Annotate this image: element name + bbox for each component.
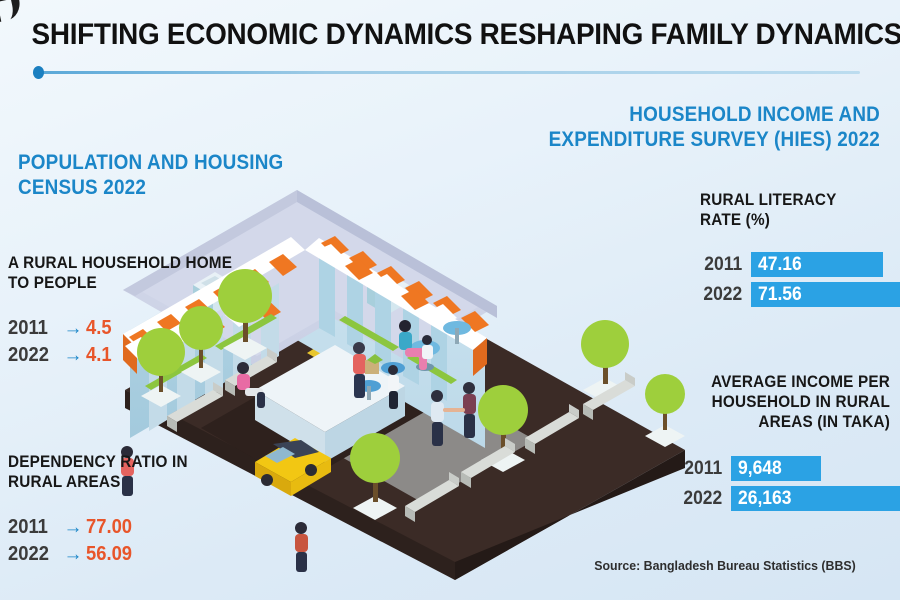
arrow-right-icon: → bbox=[60, 517, 86, 539]
corner-mark-decoration bbox=[0, 0, 23, 22]
bar-year-label: 2022 bbox=[682, 488, 722, 510]
infographic-canvas: SHIFTING ECONOMIC DYNAMICS RESHAPING FAM… bbox=[0, 0, 900, 600]
bar-value-label: 26,163 bbox=[738, 488, 791, 510]
stat-title-dependency: DEPENDENCY RATIO IN RURAL AREAS bbox=[8, 452, 233, 492]
bar-row: 2022 26,163 bbox=[680, 486, 900, 511]
bar-fill: 26,163 bbox=[731, 486, 900, 511]
stat-value: 4.1 bbox=[86, 344, 112, 367]
arrow-right-icon: → bbox=[60, 544, 86, 566]
title-divider-dot bbox=[33, 66, 44, 79]
literacy-bar-chart: 2011 47.16 2022 71.56 bbox=[700, 252, 900, 312]
bar-year-label: 2011 bbox=[702, 254, 742, 276]
income-bar-chart: 2011 9,648 2022 26,163 bbox=[680, 456, 900, 516]
section-heading-census: POPULATION AND HOUSING CENSUS 2022 bbox=[18, 150, 288, 200]
bar-value-label: 71.56 bbox=[758, 284, 802, 306]
dependency-stat-rows: 2011 → 77.00 2022 → 56.09 bbox=[8, 516, 136, 570]
stat-year: 2011 bbox=[8, 516, 56, 539]
stat-row: 2011 → 4.5 bbox=[8, 317, 114, 344]
stat-title-household: A RURAL HOUSEHOLD HOME TO PEOPLE bbox=[8, 253, 233, 293]
bar-row: 2011 47.16 bbox=[700, 252, 900, 277]
arrow-right-icon: → bbox=[60, 345, 86, 367]
bar-row: 2022 71.56 bbox=[700, 282, 900, 307]
stat-year: 2022 bbox=[8, 543, 56, 566]
stat-row: 2022 → 56.09 bbox=[8, 543, 136, 570]
bar-fill: 71.56 bbox=[751, 282, 900, 307]
source-note: Source: Bangladesh Bureau Statistics (BB… bbox=[568, 558, 882, 573]
stat-value: 4.5 bbox=[86, 317, 112, 340]
page-title: SHIFTING ECONOMIC DYNAMICS RESHAPING FAM… bbox=[32, 18, 869, 52]
stat-title-literacy: RURAL LITERACY RATE (%) bbox=[700, 190, 871, 230]
stat-year: 2011 bbox=[8, 317, 56, 340]
bar-fill: 9,648 bbox=[731, 456, 821, 481]
arrow-right-icon: → bbox=[60, 318, 86, 340]
stat-title-income: AVERAGE INCOME PER HOUSEHOLD IN RURAL AR… bbox=[710, 372, 890, 432]
bar-value-label: 9,648 bbox=[738, 458, 782, 480]
stat-year: 2022 bbox=[8, 344, 56, 367]
bar-fill: 47.16 bbox=[751, 252, 883, 277]
section-heading-hies: HOUSEHOLD INCOME AND EXPENDITURE SURVEY … bbox=[538, 102, 880, 152]
title-divider-line bbox=[40, 71, 860, 74]
bar-year-label: 2011 bbox=[682, 458, 722, 480]
bar-row: 2011 9,648 bbox=[680, 456, 900, 481]
stat-value: 56.09 bbox=[86, 543, 132, 566]
household-stat-rows: 2011 → 4.5 2022 → 4.1 bbox=[8, 317, 114, 371]
bar-value-label: 47.16 bbox=[758, 254, 802, 276]
stat-value: 77.00 bbox=[86, 516, 132, 539]
bar-year-label: 2022 bbox=[702, 284, 742, 306]
stat-row: 2022 → 4.1 bbox=[8, 344, 114, 371]
stat-row: 2011 → 77.00 bbox=[8, 516, 136, 543]
